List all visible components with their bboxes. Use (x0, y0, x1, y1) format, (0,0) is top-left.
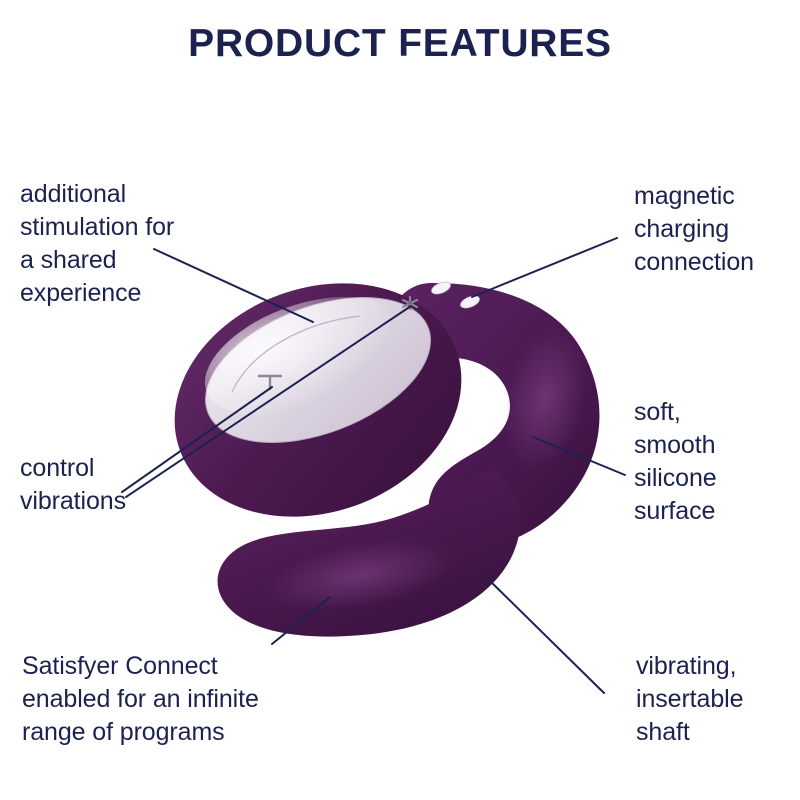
leader-line-magnetic (472, 238, 617, 297)
feature-label-vibrating-shaft: vibrating, insertable shaft (636, 650, 800, 749)
feature-label-satisfyer-connect: Satisfyer Connect enabled for an infinit… (22, 650, 352, 749)
leader-line-vibrating (487, 578, 604, 693)
product-features-infographic: PRODUCT FEATURES (0, 0, 800, 800)
feature-label-additional-stimulation: additional stimulation for a shared expe… (20, 178, 270, 310)
feature-label-soft-silicone: soft, smooth silicone surface (634, 396, 800, 528)
feature-label-magnetic-charging: magnetic charging connection (634, 180, 800, 279)
feature-label-control-vibrations: control vibrations (20, 452, 250, 518)
